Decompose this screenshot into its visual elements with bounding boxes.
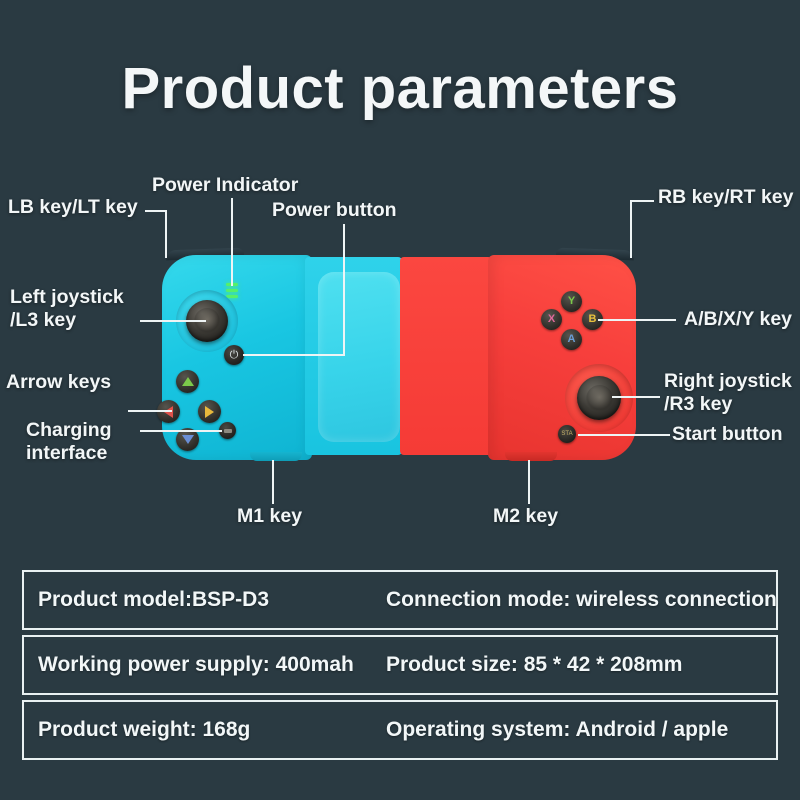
leader-rb-rt-horizontal [630, 200, 654, 202]
callout-abxy-key: A/B/X/Y key [684, 308, 792, 331]
product-parameters-infographic: Product parameters ⏻ [0, 0, 800, 800]
callout-power-indicator: Power Indicator [152, 174, 298, 197]
callout-power-button: Power button [272, 199, 397, 222]
leader-power-indicator [231, 198, 233, 286]
start-button[interactable]: STA [558, 425, 576, 443]
table-row: Working power supply: 400mah Product siz… [22, 635, 778, 695]
spec-operating-system: Operating system: Android / apple [372, 718, 776, 742]
callout-m1-key: M1 key [237, 505, 302, 528]
a-button[interactable]: A [561, 329, 582, 350]
leader-power-button-vertical [343, 224, 345, 355]
leader-left-joystick [140, 320, 206, 322]
a-button-label: A [568, 334, 576, 345]
leader-m1-key [272, 460, 274, 504]
dpad-up-key[interactable] [176, 370, 199, 393]
spec-product-size: Product size: 85 * 42 * 208mm [372, 653, 776, 677]
right-joystick-grip-texture [586, 385, 613, 412]
table-row: Product weight: 168g Operating system: A… [22, 700, 778, 760]
x-button-label: X [548, 314, 555, 325]
table-row: Product model:BSP-D3 Connection mode: wi… [22, 570, 778, 630]
callout-arrow-keys: Arrow keys [6, 371, 111, 394]
spec-power-supply: Working power supply: 400mah [24, 653, 372, 677]
leader-m2-key [528, 460, 530, 504]
leader-abxy-key [598, 319, 676, 321]
callout-start-button: Start button [672, 423, 782, 446]
y-button-label: Y [568, 296, 575, 307]
leader-arrow-keys [128, 410, 172, 412]
dpad-right-key[interactable] [198, 400, 221, 423]
center-bridge-right [400, 257, 492, 455]
spec-connection-mode: Connection mode: wireless connection [372, 588, 785, 612]
phone-cradle-plate [318, 272, 400, 442]
callout-rb-rt-key: RB key/RT key [658, 186, 793, 209]
callout-left-joystick: Left joystick /L3 key [10, 286, 124, 332]
power-button[interactable]: ⏻ [224, 345, 244, 365]
triangle-down-icon [182, 435, 194, 444]
b-button-label: B [589, 314, 597, 325]
led-bar [226, 289, 238, 292]
usb-port-icon [224, 429, 232, 433]
m1-key[interactable] [250, 452, 302, 461]
leader-right-joystick [612, 396, 660, 398]
callout-m2-key: M2 key [493, 505, 558, 528]
spec-product-weight: Product weight: 168g [24, 718, 372, 742]
power-icon: ⏻ [224, 345, 244, 365]
x-button[interactable]: X [541, 309, 562, 330]
spec-product-model: Product model:BSP-D3 [24, 588, 372, 612]
callout-charging-interface: Charging interface [26, 419, 112, 465]
y-button[interactable]: Y [561, 291, 582, 312]
m2-key[interactable] [505, 452, 557, 461]
start-button-label: STA [561, 431, 572, 437]
leader-lb-lt-vertical [165, 210, 167, 258]
triangle-up-icon [182, 377, 194, 386]
callout-right-joystick: Right joystick /R3 key [664, 370, 792, 416]
leader-start-button [578, 434, 670, 436]
spec-table: Product model:BSP-D3 Connection mode: wi… [22, 570, 778, 760]
leader-charging-interface [140, 430, 222, 432]
leader-power-button-horizontal [243, 354, 345, 356]
leader-rb-rt-vertical [630, 200, 632, 258]
callout-lb-lt-key: LB key/LT key [8, 196, 138, 219]
leader-lb-lt-horizontal [145, 210, 167, 212]
triangle-right-icon [205, 406, 214, 418]
